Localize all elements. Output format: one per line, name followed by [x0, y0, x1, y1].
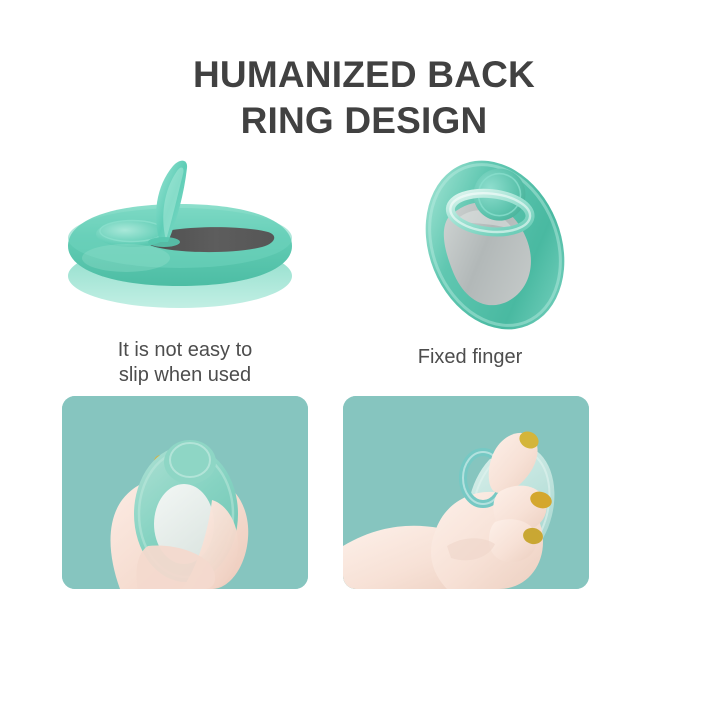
device-body-highlight	[82, 244, 170, 272]
caption-right-line-1: Fixed finger	[345, 345, 595, 370]
caption-left: It is not easy to slip when used	[60, 338, 310, 388]
page-title: HUMANIZED BACK RING DESIGN	[0, 52, 728, 144]
teal-oval-device-back-view-illustration	[350, 150, 640, 340]
photo-hand-holding-device-illustration	[62, 396, 308, 589]
photo-finger-through-ring-illustration	[343, 396, 589, 589]
caption-left-line-2: slip when used	[60, 363, 310, 388]
caption-right: Fixed finger	[345, 345, 595, 370]
caption-left-line-1: It is not easy to	[60, 338, 310, 363]
product-back-view	[350, 150, 640, 340]
page-title-line-1: HUMANIZED BACK	[0, 52, 728, 98]
device-ring-base	[148, 237, 180, 247]
photo-finger-through-ring	[343, 396, 589, 589]
photo-hand-holding-device	[62, 396, 308, 589]
product-side-view	[40, 150, 330, 340]
product-render-row	[0, 150, 728, 340]
teal-oval-device-side-view-illustration	[40, 150, 330, 340]
page-title-line-2: RING DESIGN	[0, 98, 728, 144]
